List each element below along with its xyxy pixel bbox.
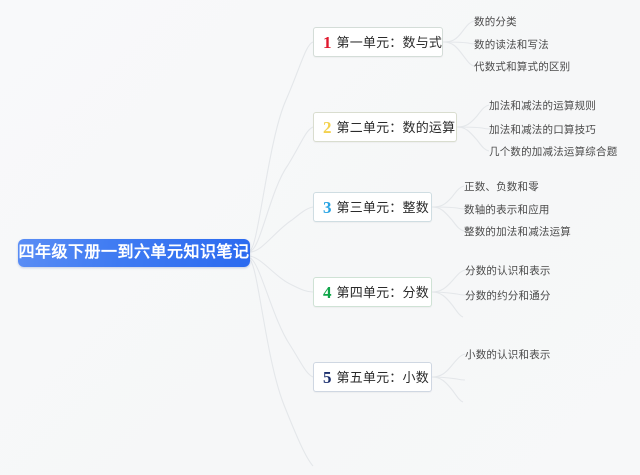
leaf-item[interactable]: 整数的加法和减法运算 — [464, 227, 571, 238]
connector-root-to-branch-5 — [250, 258, 313, 377]
branch-node-1[interactable]: 1 第一单元：数与式 — [313, 27, 443, 57]
connector-branch-3-leaf-3 — [432, 207, 464, 231]
connector-branch-4-leaf-2 — [432, 292, 465, 295]
leaf-item[interactable]: 代数式和算式的区别 — [474, 62, 570, 73]
branch-title-3: 第三单元：整数 — [337, 201, 429, 214]
leaf-item[interactable]: 分数的约分和通分 — [465, 291, 551, 302]
connector-branch-5-leaf-2 — [432, 377, 465, 380]
branch-title-2: 第二单元：数的运算 — [337, 121, 456, 134]
connector-root-to-branch-3 — [250, 207, 313, 252]
leaf-item[interactable]: 几个数的加减法运算综合题 — [489, 147, 617, 158]
branch-number-3: 3 — [323, 199, 332, 216]
connector-root-to-branch-4 — [250, 256, 313, 292]
connector-branch-2-leaf-1 — [457, 105, 489, 127]
leaf-item[interactable]: 数的读法和写法 — [474, 40, 549, 51]
connector-branch-1-leaf-2 — [443, 42, 476, 44]
branch-number-5: 5 — [323, 369, 332, 386]
mindmap-canvas: 四年级下册一到六单元知识笔记 1 第一单元：数与式 数的分类 数的读法和写法 代… — [0, 0, 640, 475]
branch-title-5: 第五单元：小数 — [337, 371, 429, 384]
connector-branch-4-leaf-1 — [432, 270, 465, 292]
leaf-item[interactable]: 正数、负数和零 — [464, 182, 539, 193]
connector-branch-5-leaf-3 — [432, 377, 463, 402]
root-node[interactable]: 四年级下册一到六单元知识笔记 — [18, 239, 250, 267]
branch-number-2: 2 — [323, 119, 332, 136]
connector-branch-2-leaf-3 — [457, 127, 489, 151]
connector-root-to-branch-2 — [250, 127, 313, 251]
connector-root-to-branch-1 — [250, 42, 313, 250]
branch-number-1: 1 — [323, 34, 332, 51]
leaf-item[interactable]: 加法和减法的口算技巧 — [489, 125, 596, 136]
connector-branch-3-leaf-2 — [432, 207, 465, 209]
connector-branch-4-leaf-3 — [432, 292, 463, 317]
leaf-item[interactable]: 加法和减法的运算规则 — [489, 101, 596, 112]
branch-title-4: 第四单元：分数 — [337, 286, 429, 299]
connector-branch-1-leaf-1 — [443, 21, 474, 42]
leaf-item[interactable]: 数轴的表示和应用 — [464, 205, 550, 216]
connector-branch-1-leaf-3 — [443, 42, 474, 66]
branch-number-4: 4 — [323, 284, 332, 301]
leaf-item[interactable]: 小数的认识和表示 — [465, 350, 551, 361]
leaf-item[interactable]: 数的分类 — [474, 17, 517, 28]
connector-branch-3-leaf-1 — [432, 186, 464, 207]
leaf-item[interactable]: 分数的认识和表示 — [465, 266, 551, 277]
branch-node-2[interactable]: 2 第二单元：数的运算 — [313, 112, 457, 142]
connector-branch-2-leaf-2 — [457, 127, 490, 129]
branch-node-4[interactable]: 4 第四单元：分数 — [313, 277, 432, 307]
root-node-label: 四年级下册一到六单元知识笔记 — [18, 245, 249, 261]
branch-node-3[interactable]: 3 第三单元：整数 — [313, 192, 432, 222]
branch-title-1: 第一单元：数与式 — [337, 36, 443, 49]
connector-branch-5-leaf-1 — [432, 354, 465, 377]
connector-root-to-branch-6 — [250, 260, 313, 466]
branch-node-5[interactable]: 5 第五单元：小数 — [313, 362, 432, 392]
